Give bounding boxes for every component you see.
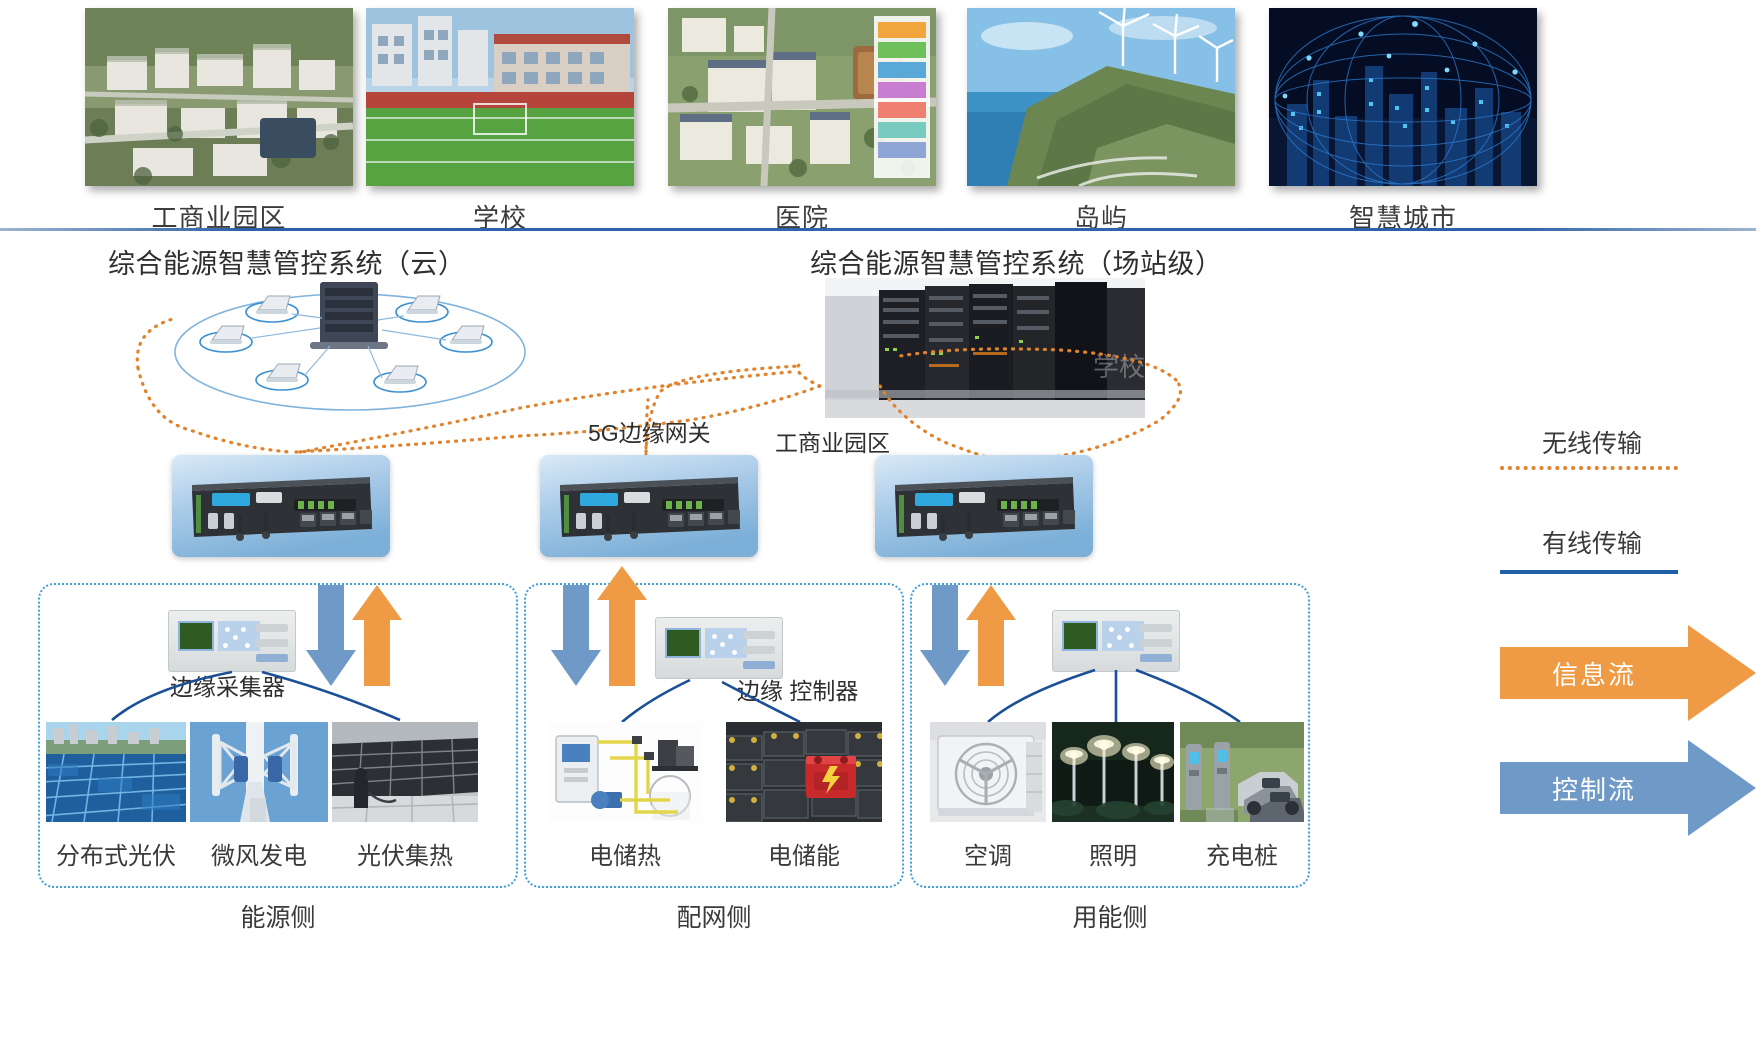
smart-city-night-photo (1269, 8, 1537, 186)
thermal-storage-equipment-photo (548, 722, 702, 822)
scenario-industrial-park: 工商业园区 (85, 8, 353, 235)
island-wind-turbine-photo (967, 8, 1235, 186)
diagram-canvas: 工商业园区 (0, 0, 1756, 1044)
device-label-thermal: 光伏集热 (332, 836, 478, 871)
gateway-label: 5G边缘网关 (588, 414, 711, 448)
scenario-strip: 工商业园区 (0, 0, 1756, 250)
information-flow-arrow: 信息流 (1500, 625, 1756, 721)
scenario-smart-city: 智慧城市 (1269, 8, 1537, 235)
micro-wind-turbine-photo (190, 722, 328, 822)
edge-controller-label: 边缘 控制器 (737, 672, 858, 706)
industrial-park-aerial-photo (85, 8, 353, 186)
gateway-load-side[interactable] (875, 455, 1093, 557)
ev-charging-pile-photo (1180, 722, 1304, 822)
device-label-battery-storage: 电储能 (726, 836, 882, 871)
cloud-server-network-illustration (160, 272, 540, 417)
group-caption-load: 用能侧 (910, 898, 1310, 934)
air-conditioner-photo (930, 722, 1046, 822)
information-flow-label: 信息流 (1500, 647, 1688, 699)
edge-collector-label: 边缘采集器 (170, 668, 285, 702)
device-label-lighting: 照明 (1052, 836, 1174, 871)
group-caption-grid: 配网侧 (524, 898, 904, 934)
group-caption-energy: 能源侧 (38, 898, 518, 934)
edge-controller-device-grid (655, 617, 783, 679)
gateway-grid-side[interactable] (540, 455, 758, 557)
street-lighting-photo (1052, 722, 1174, 822)
device-label-ac: 空调 (930, 836, 1046, 871)
solar-thermal-collector-photo (332, 722, 478, 822)
legend-wired-line (1500, 570, 1678, 574)
legend-wired-label: 有线传输 (1542, 524, 1642, 560)
park-label: 工商业园区 (775, 424, 890, 458)
edge-controller-device-load (1052, 610, 1180, 672)
control-flow-arrow: 控制流 (1500, 740, 1756, 836)
control-flow-label: 控制流 (1500, 762, 1688, 814)
device-label-charging: 充电桩 (1180, 836, 1304, 871)
server-rack-room-photo: 学校 (825, 278, 1145, 418)
legend-wireless-label: 无线传输 (1542, 424, 1642, 460)
battery-energy-storage-photo (726, 722, 882, 822)
school-campus-photo (366, 8, 634, 186)
station-system-title: 综合能源智慧管控系统（场站级） (810, 242, 1223, 281)
scenario-hospital: 医院 (668, 8, 936, 235)
legend-wireless-line (1500, 466, 1678, 470)
solar-pv-panels-photo (46, 722, 186, 822)
device-label-wind: 微风发电 (190, 836, 328, 871)
device-label-pv: 分布式光伏 (46, 836, 186, 871)
svg-text:学校: 学校 (1093, 353, 1145, 383)
scenario-school: 学校 (366, 8, 634, 235)
section-divider (0, 228, 1756, 231)
device-label-thermal-storage: 电储热 (548, 836, 702, 871)
scenario-island: 岛屿 (967, 8, 1235, 235)
hospital-aerial-photo (668, 8, 936, 186)
edge-collector-device-energy (168, 610, 296, 672)
gateway-energy-side[interactable] (172, 455, 390, 557)
